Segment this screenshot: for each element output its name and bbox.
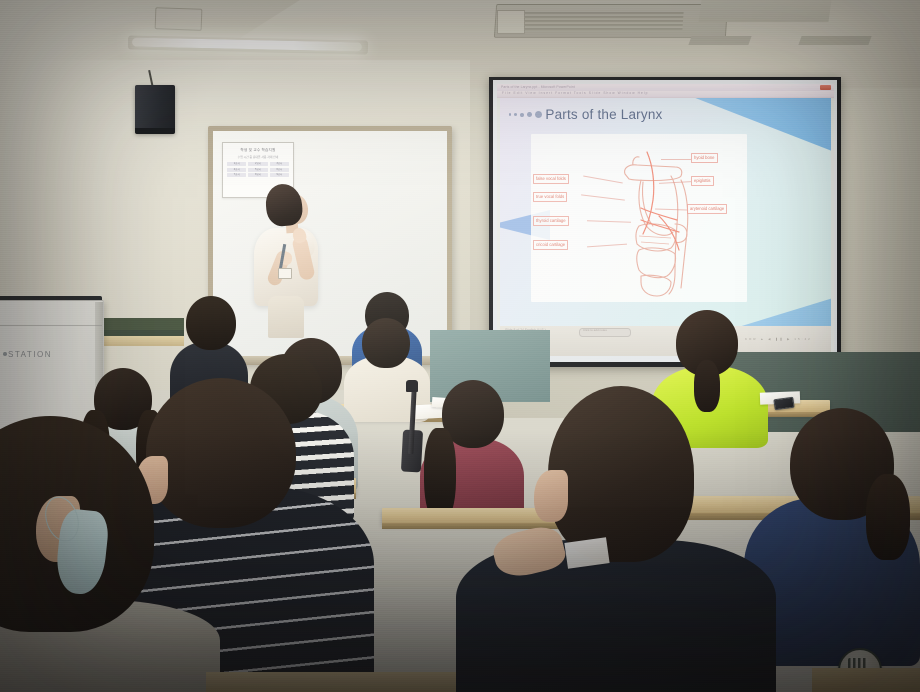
bullet-dot-icon — [535, 111, 542, 118]
menu-items: File Edit View Insert Format Tools Slide… — [502, 91, 649, 95]
poster-title: 학생 및 교수 학습지원 — [227, 148, 289, 153]
poster-subtitle: 수업 시간 중 휴대폰 사용 자제 안내 — [227, 155, 289, 159]
station-label: STATION — [8, 350, 52, 359]
bullet-dot-icon — [509, 113, 511, 115]
leader-line — [587, 220, 631, 222]
diagram-label-false-vocal-folds: false vocal folds — [533, 174, 569, 184]
station-cabinet-seam — [0, 325, 102, 326]
window-title: Parts of the Larynx.ppt - Microsoft Powe… — [501, 85, 575, 89]
ac-grille — [507, 12, 683, 30]
rear-counter — [100, 336, 184, 346]
poster-cell: 2교시 — [248, 162, 267, 166]
umbrella-handle — [406, 380, 418, 392]
poster-cell: 9교시 — [270, 173, 289, 177]
instructor-trousers — [268, 296, 304, 338]
classroom-photo: 학생 및 교수 학습지원 수업 시간 중 휴대폰 사용 자제 안내 1교시 2교… — [0, 0, 920, 692]
close-icon — [820, 85, 831, 90]
diagram-label-hyoid-bone: hyoid bone — [691, 153, 718, 163]
student-ponytail — [866, 474, 910, 560]
leader-line — [661, 159, 691, 160]
poster-cell: 3교시 — [270, 162, 289, 166]
notes-placeholder-text: Click to add notes — [583, 328, 607, 332]
ac-access-panel — [497, 10, 525, 34]
bullet-dot-icon — [520, 113, 524, 117]
diagram-label-thyroid-cartilage: thyroid cartilage — [533, 216, 569, 226]
student-head — [548, 386, 694, 562]
poster-cell: 5교시 — [248, 168, 267, 172]
diagram-label-cricoid-cartilage: cricoid cartilage — [533, 240, 568, 250]
projected-presentation-window: Parts of the Larynx.ppt - Microsoft Powe… — [497, 84, 834, 356]
wall-speaker-base — [135, 128, 175, 134]
desk-front-edge — [206, 672, 456, 692]
student-ear — [534, 470, 568, 522]
slide-title-row: Parts of the Larynx — [509, 107, 662, 122]
station-logo-icon — [3, 352, 7, 356]
larynx-diagram-icon — [619, 150, 697, 298]
student-ponytail — [694, 360, 720, 412]
ceiling-slot-vent-left — [688, 36, 751, 45]
taskbar-system-tray: KOR ▲ ◀ ❚❚ ▶ 15:42 — [745, 337, 812, 341]
student-head — [186, 296, 236, 350]
poster-cell: 1교시 — [227, 162, 246, 166]
poster-cell: 6교시 — [270, 168, 289, 172]
slide-diagram-panel: false vocal folds true vocal folds thyro… — [531, 134, 747, 302]
ac-vent-secondary — [698, 0, 831, 22]
slide-title: Parts of the Larynx — [545, 107, 662, 122]
diagram-label-true-vocal-folds: true vocal folds — [533, 192, 567, 202]
desk-front-edge — [812, 668, 920, 692]
diagram-label-arytenoid-cartilage: arytenoid cartilage — [687, 204, 727, 214]
ceiling-hatch — [155, 7, 203, 31]
bullet-dot-icon — [514, 113, 517, 116]
student-head — [146, 378, 296, 528]
bullet-dot-icon — [527, 112, 532, 117]
poster-cell: 7교시 — [227, 173, 246, 177]
wall-speaker-icon — [135, 85, 175, 133]
student-head — [362, 318, 410, 368]
poster-cell: 4교시 — [227, 168, 246, 172]
instructor-id-badge — [278, 268, 292, 279]
diagram-label-epiglottis: epiglottis — [691, 176, 714, 186]
ceiling-slot-vent-right — [798, 36, 871, 45]
poster-grid: 1교시 2교시 3교시 4교시 5교시 6교시 7교시 8교시 9교시 — [227, 162, 289, 177]
poster-cell: 8교시 — [248, 173, 267, 177]
leader-line — [583, 176, 622, 184]
slide-canvas: Parts of the Larynx — [500, 98, 831, 326]
